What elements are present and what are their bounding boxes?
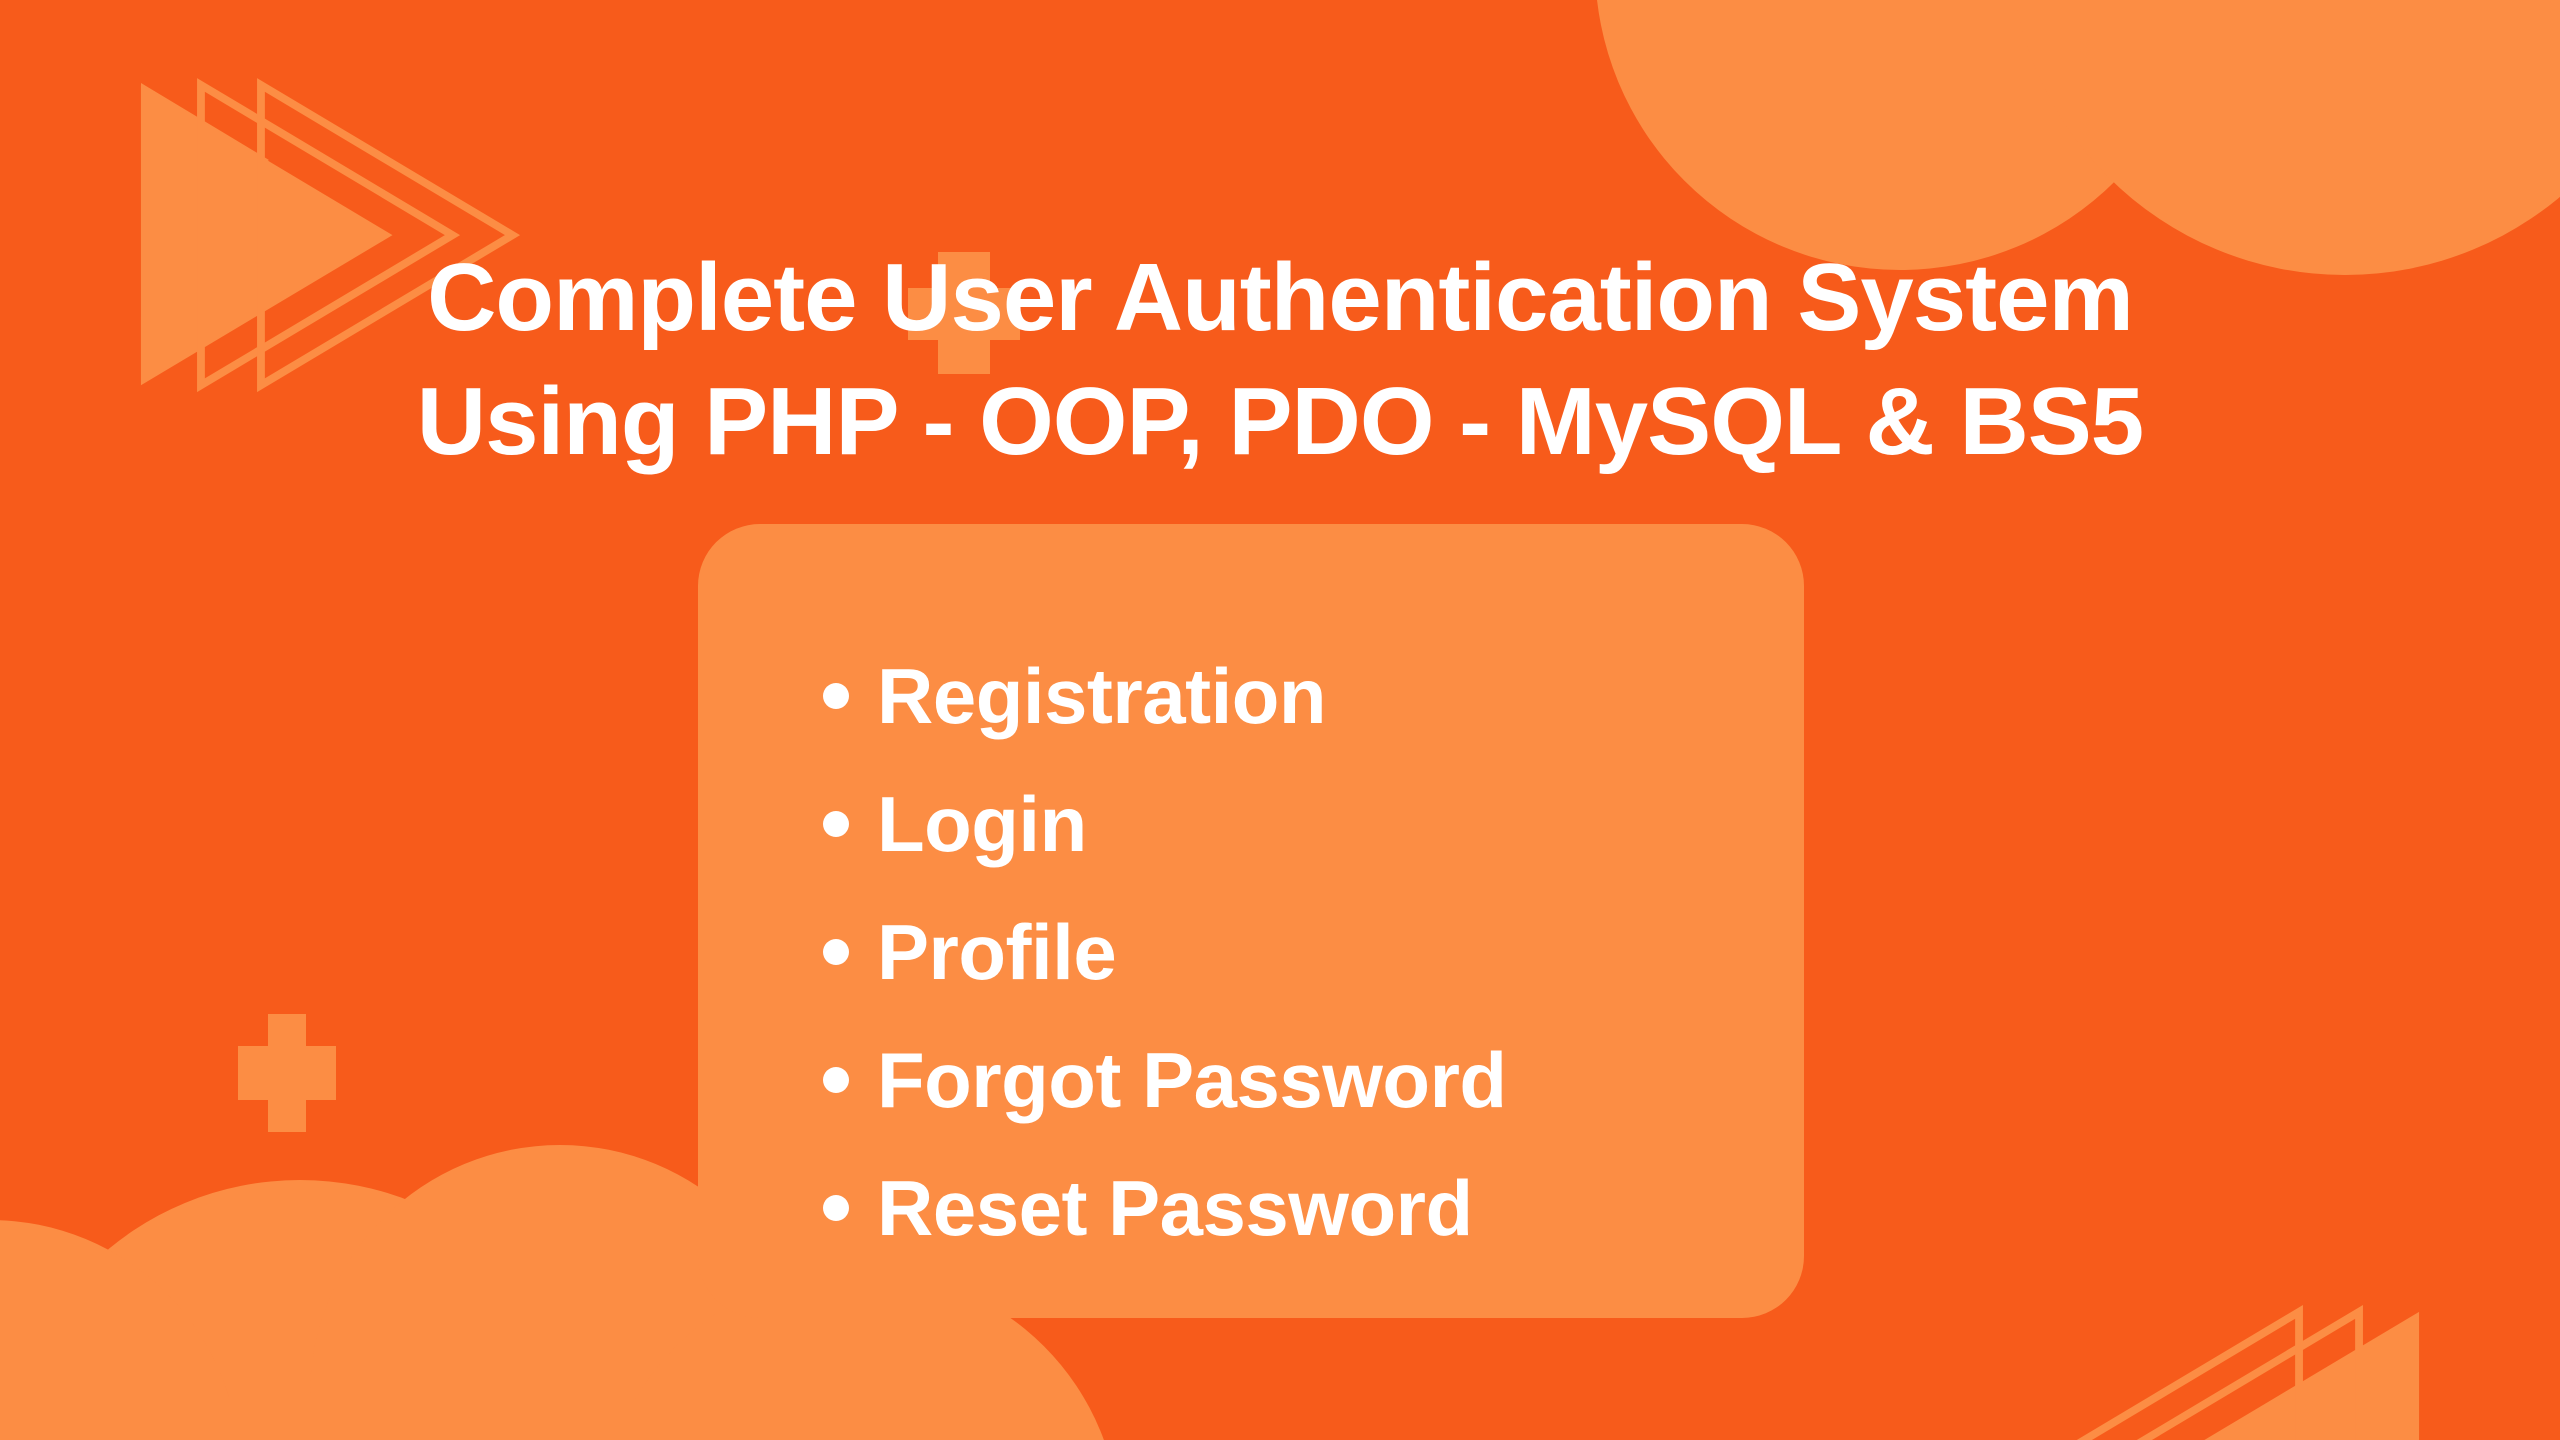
feature-label-registration: Registration [877,653,1326,739]
feature-list: Registration Login Profile Forgot Passwo… [823,632,1723,1272]
cloud-top-right-icon [1595,0,2560,275]
bullet-icon [823,683,849,709]
bullet-icon [823,811,849,837]
bullet-icon [823,1067,849,1093]
slide-title: Complete User Authentication System Usin… [0,236,2560,484]
list-item: Registration [823,632,1723,760]
bullet-icon [823,1195,849,1221]
list-item: Reset Password [823,1144,1723,1272]
feature-list-card: Registration Login Profile Forgot Passwo… [698,524,1804,1318]
list-item: Forgot Password [823,1016,1723,1144]
title-line-1: Complete User Authentication System [0,236,2560,360]
feature-label-login: Login [877,781,1087,867]
slide-canvas: Complete User Authentication System Usin… [0,0,2560,1440]
list-item: Profile [823,888,1723,1016]
feature-label-reset-password: Reset Password [877,1165,1473,1251]
chevrons-bottom-right-icon [2048,1312,2420,1440]
bullet-icon [823,939,849,965]
list-item: Login [823,760,1723,888]
plus-left-icon [238,1014,336,1132]
feature-label-profile: Profile [877,909,1116,995]
feature-label-forgot-password: Forgot Password [877,1037,1507,1123]
title-line-2: Using PHP - OOP, PDO - MySQL & BS5 [0,360,2560,484]
